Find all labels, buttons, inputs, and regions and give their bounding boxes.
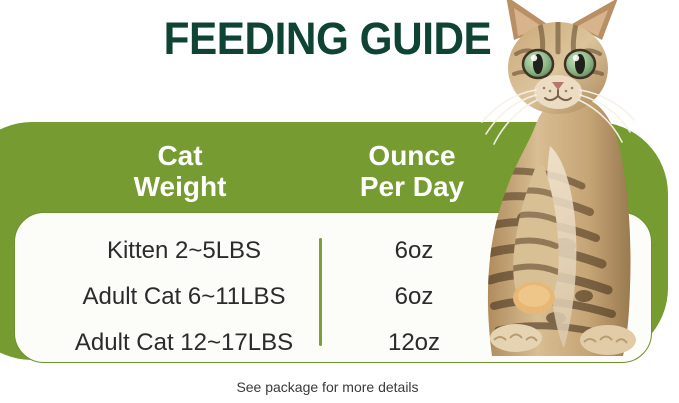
cell-cat-weight: Kitten 2~5LBS <box>50 229 318 273</box>
cat-photo <box>432 0 679 362</box>
cell-cat-weight: Adult Cat 12~17LBS <box>50 321 318 365</box>
cat-rear-paw <box>580 325 636 355</box>
cell-cat-weight: Adult Cat 6~11LBS <box>50 275 318 319</box>
cat-front-paw-grounded <box>490 324 542 352</box>
cat-muzzle <box>534 75 582 109</box>
column-header-cat-weight-line2: Weight <box>80 171 280 202</box>
feeding-guide-card: FEEDING GUIDE Cat Weight Ounce Per Day K… <box>0 0 679 403</box>
footer-note: See package for more details <box>0 379 655 395</box>
column-header-cat-weight: Cat Weight <box>80 140 280 202</box>
column-header-cat-weight-line1: Cat <box>80 140 280 171</box>
column-divider <box>319 238 322 346</box>
